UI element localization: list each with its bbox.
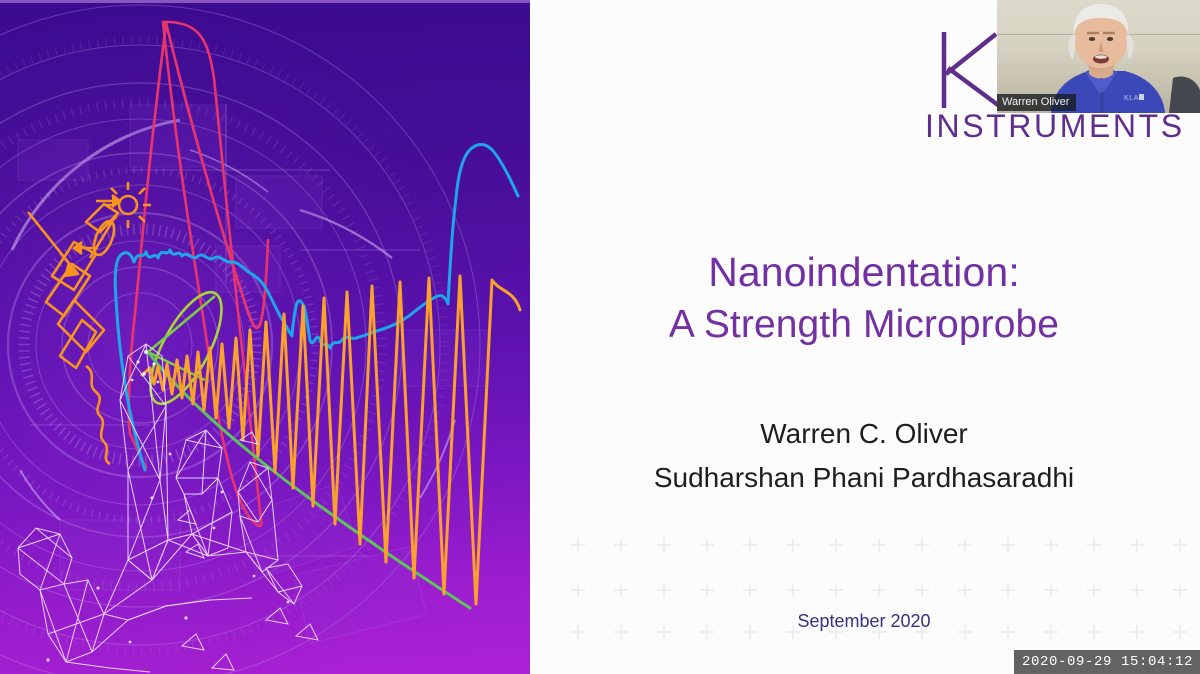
presentation-slide-screenshot: Nanoindentation: A Strength Microprobe W… — [0, 0, 1200, 674]
slide-title-line-1: Nanoindentation: — [560, 245, 1168, 299]
recording-timestamp: 2020-09-29 15:04:12 — [1014, 650, 1200, 674]
instruments-wordmark: INSTRUMENTS — [925, 108, 1185, 145]
slide-title-block: Nanoindentation: A Strength Microprobe — [560, 245, 1168, 351]
artwork-graphic — [0, 0, 530, 674]
slide-date: September 2020 — [560, 611, 1168, 632]
slide-artwork-panel — [0, 0, 530, 674]
webcam-video-overlay[interactable]: KLA Warren Oliver — [997, 0, 1200, 113]
author-name-2: Sudharshan Phani Pardhasaradhi — [560, 456, 1168, 500]
author-name-1: Warren C. Oliver — [560, 412, 1168, 456]
svg-text:KLA: KLA — [1124, 95, 1139, 102]
artwork-top-rule — [0, 0, 530, 3]
slide-title-line-2: A Strength Microprobe — [560, 299, 1168, 351]
participant-name-label: Warren Oliver — [997, 94, 1076, 111]
slide-authors: Warren C. Oliver Sudharshan Phani Pardha… — [560, 412, 1168, 500]
